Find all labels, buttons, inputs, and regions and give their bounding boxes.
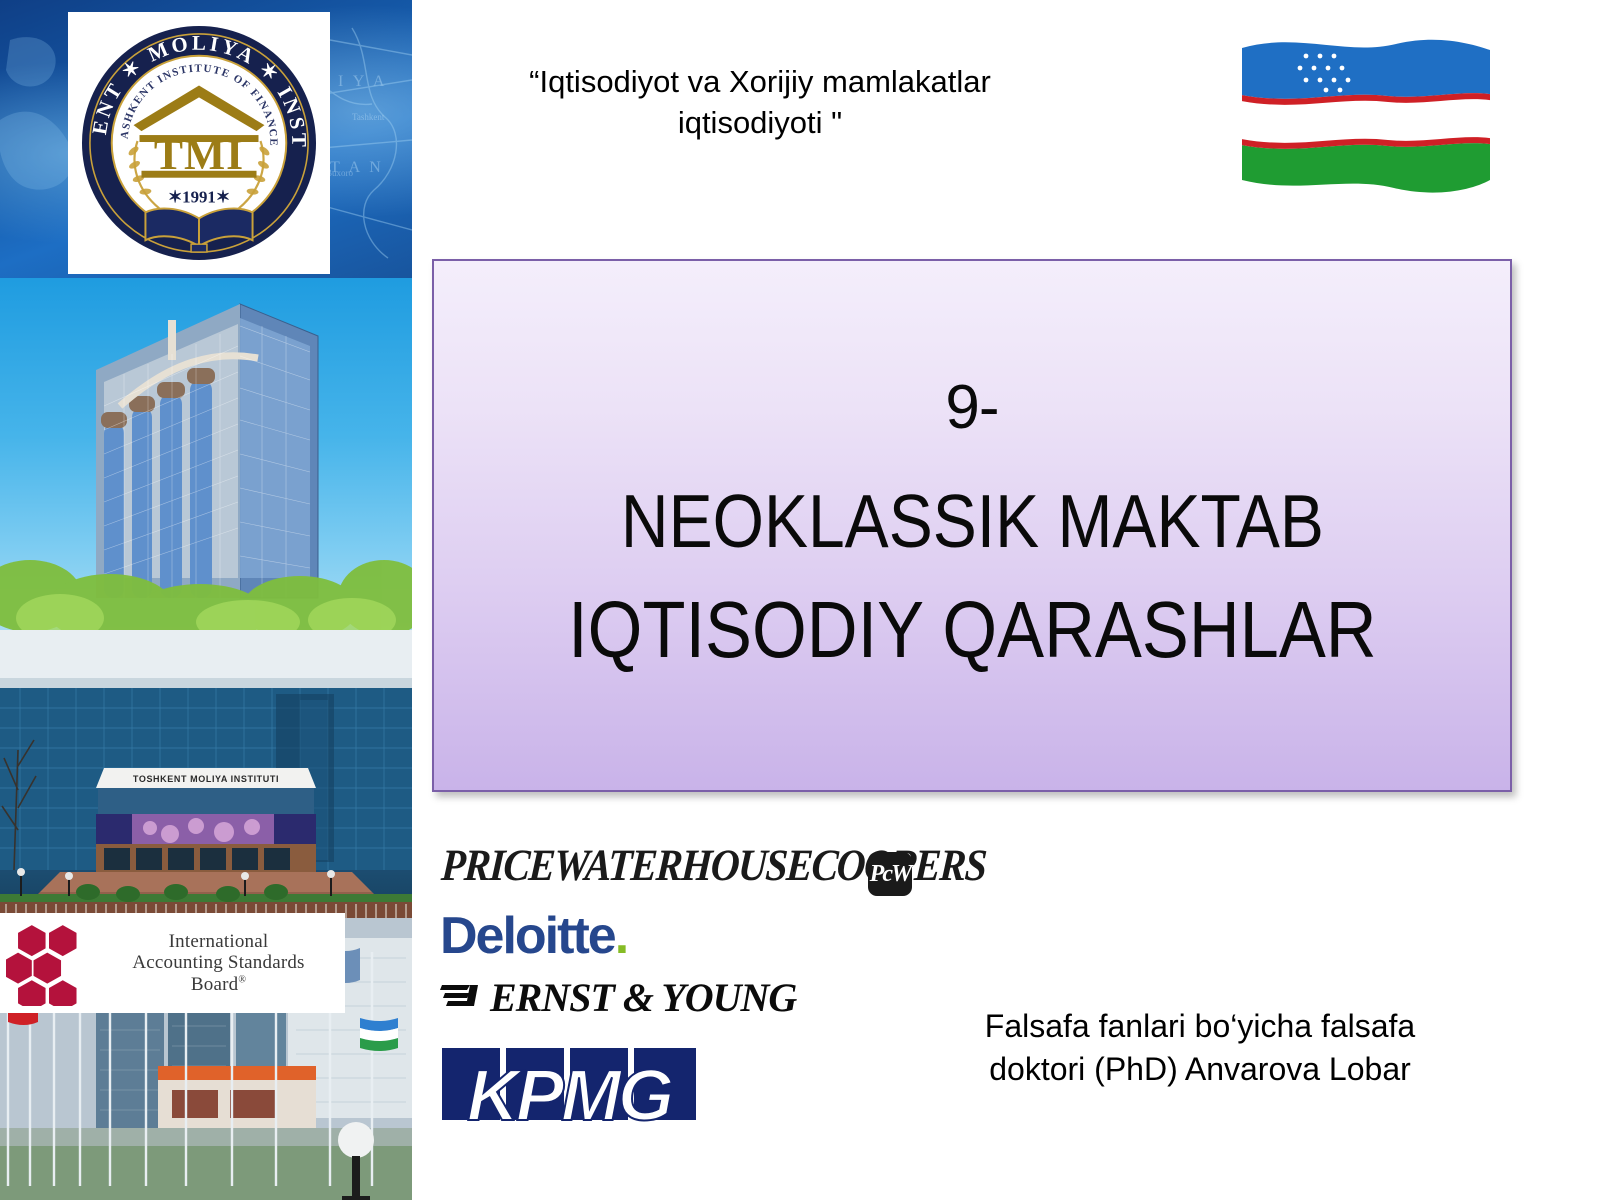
pwc-logo: PRICEWATERHOUSECOOPERS PcW (440, 848, 960, 900)
left-photo-strip: I Y A T A N Tashkent Buxoro (0, 0, 412, 1200)
photo-map-background: I Y A T A N Tashkent Buxoro (0, 0, 412, 278)
iasb-line-1: International (92, 931, 345, 952)
ey-wordmark: ERNST & YOUNG (490, 978, 796, 1018)
iasb-hexagon-icon (6, 920, 92, 1006)
iasb-logo-card: International Accounting Standards Board… (0, 913, 345, 1013)
kpmg-wordmark: KPMG (440, 1060, 698, 1132)
uzbekistan-flag-icon (1228, 30, 1500, 200)
svg-text:I Y A: I Y A (338, 73, 387, 90)
slide-header-subtitle: “Iqtisodiyot va Xorijiy mamlakatlar iqti… (440, 62, 1080, 144)
svg-text:TMI: TMI (154, 131, 244, 179)
author-line-1: Falsafa fanlari bo‘yicha falsafa (880, 1005, 1520, 1048)
svg-text:✶1991✶: ✶1991✶ (168, 188, 230, 207)
slide-title-box: 9- NEOKLASSIK MAKTAB IQTISODIY QARASHLAR (432, 259, 1512, 792)
pwc-monogram-icon: PcW (868, 852, 912, 896)
tmi-seal-icon: TOSHKENT ✶ MOLIYA ✶ INSTITUTI TASHKENT I… (80, 24, 318, 262)
photo-tmi-building: TOSHKENT MOLIYA INSTITUTI (0, 630, 412, 918)
svg-text:Buxoro: Buxoro (326, 168, 354, 178)
iasb-line-2: Accounting Standards (92, 952, 345, 973)
iasb-line-3: Board® (92, 974, 345, 995)
author-line-2: doktori (PhD) Anvarova Lobar (880, 1048, 1520, 1091)
title-line-2: IQTISODIY QARASHLAR (568, 585, 1377, 675)
ey-beam-icon (440, 983, 482, 1013)
title-line-1: NEOKLASSIK MAKTAB (620, 479, 1323, 563)
deloitte-green-dot-icon: . (615, 907, 627, 965)
header-line-2: iqtisodiyoti " (440, 103, 1080, 144)
title-number: 9- (945, 377, 998, 439)
deloitte-logo: Deloitte. (440, 910, 960, 966)
author-credit: Falsafa fanlari bo‘yicha falsafa doktori… (880, 1005, 1520, 1091)
iasb-logo-text: International Accounting Standards Board… (92, 931, 345, 995)
big-four-logos: PRICEWATERHOUSECOOPERS PcW Deloitte. ERN… (440, 848, 960, 1136)
photo-glass-tower (0, 278, 412, 630)
glass-tower-graphic (0, 278, 412, 630)
tmi-building-graphic: TOSHKENT MOLIYA INSTITUTI (0, 630, 412, 918)
svg-text:Tashkent: Tashkent (352, 112, 385, 122)
kpmg-logo: KPMG (440, 1038, 698, 1136)
building-sign-text: TOSHKENT MOLIYA INSTITUTI (133, 774, 279, 784)
header-line-1: “Iqtisodiyot va Xorijiy mamlakatlar (440, 62, 1080, 103)
tmi-logo-card: TOSHKENT ✶ MOLIYA ✶ INSTITUTI TASHKENT I… (68, 12, 330, 274)
deloitte-wordmark: Deloitte (440, 907, 615, 965)
